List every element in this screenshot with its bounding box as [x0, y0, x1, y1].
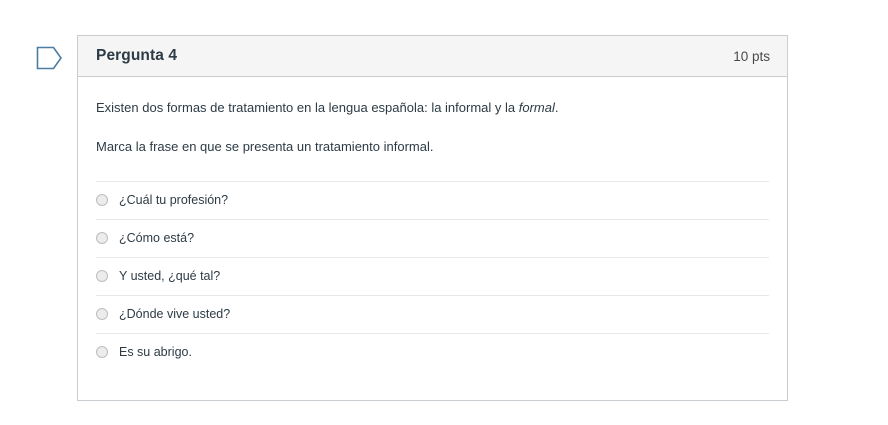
radio-button-icon[interactable] — [96, 232, 108, 244]
question-body: Existen dos formas de tratamiento en la … — [78, 77, 787, 371]
question-header: Pergunta 4 10 pts — [78, 36, 787, 77]
radio-button-icon[interactable] — [96, 270, 108, 282]
radio-button-icon[interactable] — [96, 346, 108, 358]
question-prompt-line-1: Existen dos formas de tratamiento en la … — [96, 99, 769, 118]
question-prompt-line-2: Marca la frase en que se presenta un tra… — [96, 138, 769, 157]
answer-option-label: ¿Dónde vive usted? — [119, 308, 230, 321]
answer-option-label: Y usted, ¿qué tal? — [119, 270, 220, 283]
radio-button-icon[interactable] — [96, 308, 108, 320]
flag-outline-icon[interactable] — [36, 46, 63, 70]
answer-option-label: ¿Cuál tu profesión? — [119, 194, 228, 207]
prompt-text-after-italic: . — [555, 100, 559, 115]
question-title: Pergunta 4 — [96, 47, 177, 65]
radio-button-icon[interactable] — [96, 194, 108, 206]
answer-option[interactable]: Y usted, ¿qué tal? — [96, 257, 769, 295]
answer-option-label: ¿Cómo está? — [119, 232, 194, 245]
prompt-text-before-italic: Existen dos formas de tratamiento en la … — [96, 100, 519, 115]
answer-option[interactable]: Es su abrigo. — [96, 333, 769, 371]
answer-option[interactable]: ¿Cuál tu profesión? — [96, 181, 769, 219]
answer-option[interactable]: ¿Cómo está? — [96, 219, 769, 257]
page-root: Pergunta 4 10 pts Existen dos formas de … — [0, 0, 888, 425]
question-card: Pergunta 4 10 pts Existen dos formas de … — [77, 35, 788, 401]
answer-option-label: Es su abrigo. — [119, 346, 192, 359]
prompt-text-italic: formal — [519, 100, 555, 115]
answer-option[interactable]: ¿Dónde vive usted? — [96, 295, 769, 333]
question-points: 10 pts — [733, 49, 770, 64]
answer-list: ¿Cuál tu profesión? ¿Cómo está? Y usted,… — [96, 181, 769, 371]
